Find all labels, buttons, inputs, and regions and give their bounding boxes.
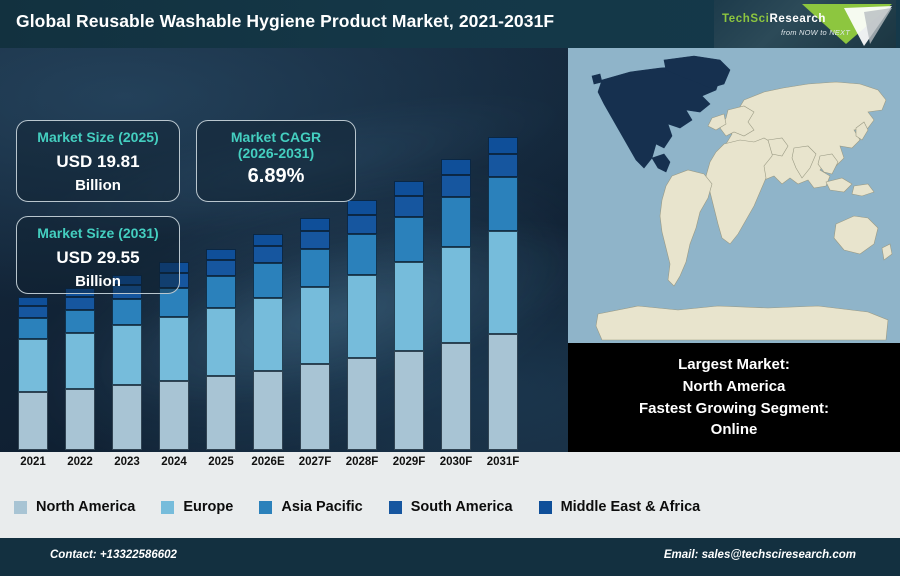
bar-segment-north-america[interactable]	[18, 392, 48, 450]
bar-segment-middle-east-africa[interactable]	[18, 297, 48, 306]
bar-segment-north-america[interactable]	[300, 364, 330, 450]
x-axis-tick-2030F: 2030F	[433, 456, 479, 468]
bar-segment-europe[interactable]	[65, 333, 95, 388]
bar-segment-europe[interactable]	[253, 298, 283, 370]
bar-segment-south-america[interactable]	[206, 260, 236, 276]
bar-segment-europe[interactable]	[112, 325, 142, 384]
callout-line-2: North America	[683, 376, 786, 398]
stat-card-market-size-2025: Market Size (2025) USD 19.81 Billion	[16, 120, 180, 202]
legend-item-europe[interactable]: Europe	[161, 499, 233, 515]
bar-segment-asia-pacific[interactable]	[441, 197, 471, 246]
chart-panel: Market Size (2025) USD 19.81 Billion Mar…	[0, 48, 568, 452]
footer-email: Email: sales@techsciresearch.com	[664, 549, 856, 561]
bar-segment-asia-pacific[interactable]	[18, 318, 48, 339]
legend-item-south-america[interactable]: South America	[389, 499, 513, 515]
bar-segment-asia-pacific[interactable]	[65, 310, 95, 333]
bar-segment-south-america[interactable]	[253, 246, 283, 263]
legend-item-asia-pacific[interactable]: Asia Pacific	[259, 499, 362, 515]
x-axis-tick-2031F: 2031F	[480, 456, 526, 468]
bar-segment-south-america[interactable]	[394, 196, 424, 216]
stat-card-value: 6.89%	[207, 165, 345, 188]
world-map	[568, 48, 900, 343]
bar-segment-north-america[interactable]	[206, 376, 236, 450]
logo-text: TechSciResearch from NOW to NEXT	[722, 14, 872, 37]
bar-segment-south-america[interactable]	[65, 297, 95, 310]
infographic-page: Global Reusable Washable Hygiene Product…	[0, 0, 900, 576]
bar-segment-asia-pacific[interactable]	[253, 263, 283, 298]
stat-card-value: USD 29.55	[27, 248, 169, 268]
bar-segment-north-america[interactable]	[347, 358, 377, 450]
bar-2031F[interactable]	[488, 137, 518, 450]
chart-legend: North AmericaEuropeAsia PacificSouth Ame…	[0, 476, 900, 538]
stat-card-value: USD 19.81	[27, 152, 169, 172]
stat-card-sublabel: (2026-2031)	[207, 145, 345, 161]
bar-segment-south-america[interactable]	[18, 306, 48, 318]
bar-segment-north-america[interactable]	[441, 343, 471, 450]
bar-2026E[interactable]	[253, 234, 283, 450]
x-axis-tick-2025: 2025	[198, 456, 244, 468]
stat-card-market-size-2031: Market Size (2031) USD 29.55 Billion	[16, 216, 180, 294]
bar-segment-asia-pacific[interactable]	[206, 276, 236, 308]
bar-2025[interactable]	[206, 249, 236, 450]
bar-segment-middle-east-africa[interactable]	[300, 218, 330, 231]
page-title: Global Reusable Washable Hygiene Product…	[16, 11, 554, 32]
bar-segment-europe[interactable]	[159, 317, 189, 380]
legend-swatch-icon	[539, 501, 552, 514]
bar-segment-north-america[interactable]	[253, 371, 283, 451]
logo-tagline: from NOW to NEXT	[722, 28, 850, 37]
bar-segment-north-america[interactable]	[112, 385, 142, 450]
bar-segment-middle-east-africa[interactable]	[253, 234, 283, 246]
bar-segment-middle-east-africa[interactable]	[441, 159, 471, 175]
legend-item-north-america[interactable]: North America	[14, 499, 135, 515]
bar-2021[interactable]	[18, 297, 48, 450]
x-axis-tick-2029F: 2029F	[386, 456, 432, 468]
legend-swatch-icon	[14, 501, 27, 514]
bar-segment-europe[interactable]	[18, 339, 48, 391]
callout-line-1: Largest Market:	[678, 354, 790, 376]
bar-2022[interactable]	[65, 288, 95, 450]
bar-segment-middle-east-africa[interactable]	[488, 137, 518, 154]
callout-line-3: Fastest Growing Segment:	[639, 398, 829, 420]
bar-segment-europe[interactable]	[394, 262, 424, 352]
bar-2030F[interactable]	[441, 159, 471, 450]
bar-segment-south-america[interactable]	[347, 215, 377, 234]
x-axis-tick-2026E: 2026E	[245, 456, 291, 468]
logo-brand-part2: Research	[769, 13, 826, 25]
bar-segment-asia-pacific[interactable]	[112, 299, 142, 325]
header-bar: Global Reusable Washable Hygiene Product…	[0, 0, 900, 48]
bar-segment-middle-east-africa[interactable]	[206, 249, 236, 260]
callout-line-4: Online	[711, 419, 758, 441]
bar-segment-north-america[interactable]	[65, 389, 95, 450]
bar-segment-south-america[interactable]	[488, 154, 518, 177]
bar-segment-europe[interactable]	[488, 231, 518, 335]
legend-label: South America	[411, 499, 513, 515]
stat-card-market-cagr: Market CAGR (2026-2031) 6.89%	[196, 120, 356, 202]
footer-bar: Contact: +13322586602 Email: sales@techs…	[0, 538, 900, 576]
stat-card-label: Market Size (2031)	[27, 225, 169, 241]
bar-segment-middle-east-africa[interactable]	[394, 181, 424, 196]
x-axis: 202120222023202420252026E2027F2028F2029F…	[0, 452, 568, 476]
stat-card-label: Market Size (2025)	[27, 129, 169, 145]
bar-segment-europe[interactable]	[206, 308, 236, 375]
bar-segment-south-america[interactable]	[300, 231, 330, 249]
bar-2029F[interactable]	[394, 181, 424, 450]
x-axis-tick-2023: 2023	[104, 456, 150, 468]
legend-label: Europe	[183, 499, 233, 515]
x-axis-tick-2028F: 2028F	[339, 456, 385, 468]
stat-card-unit: Billion	[27, 273, 169, 290]
x-axis-tick-2024: 2024	[151, 456, 197, 468]
bar-segment-europe[interactable]	[347, 275, 377, 359]
bar-segment-middle-east-africa[interactable]	[347, 200, 377, 214]
x-axis-tick-2021: 2021	[10, 456, 56, 468]
bar-segment-north-america[interactable]	[159, 381, 189, 450]
bar-segment-asia-pacific[interactable]	[347, 234, 377, 275]
legend-swatch-icon	[161, 501, 174, 514]
x-axis-tick-2022: 2022	[57, 456, 103, 468]
bar-segment-europe[interactable]	[300, 287, 330, 364]
bar-segment-asia-pacific[interactable]	[394, 217, 424, 262]
legend-swatch-icon	[259, 501, 272, 514]
legend-label: North America	[36, 499, 135, 515]
callout-box: Largest Market: North America Fastest Gr…	[568, 343, 900, 452]
bar-segment-north-america[interactable]	[394, 351, 424, 450]
stat-card-unit: Billion	[27, 177, 169, 194]
bar-segment-europe[interactable]	[441, 247, 471, 344]
bar-segment-north-america[interactable]	[488, 334, 518, 450]
stat-card-label: Market CAGR	[207, 129, 345, 145]
bar-2027F[interactable]	[300, 218, 330, 450]
x-axis-tick-2027F: 2027F	[292, 456, 338, 468]
legend-item-middle-east-africa[interactable]: Middle East & Africa	[539, 499, 701, 515]
bar-segment-south-america[interactable]	[441, 175, 471, 197]
bar-segment-asia-pacific[interactable]	[300, 249, 330, 287]
bar-segment-asia-pacific[interactable]	[488, 177, 518, 230]
techsci-logo[interactable]: TechSciResearch from NOW to NEXT	[714, 0, 896, 48]
footer-contact: Contact: +13322586602	[50, 549, 177, 561]
legend-swatch-icon	[389, 501, 402, 514]
legend-label: Middle East & Africa	[561, 499, 701, 515]
bar-2023[interactable]	[112, 275, 142, 450]
legend-label: Asia Pacific	[281, 499, 362, 515]
logo-brand-part1: TechSci	[722, 13, 769, 25]
bar-2028F[interactable]	[347, 200, 377, 450]
